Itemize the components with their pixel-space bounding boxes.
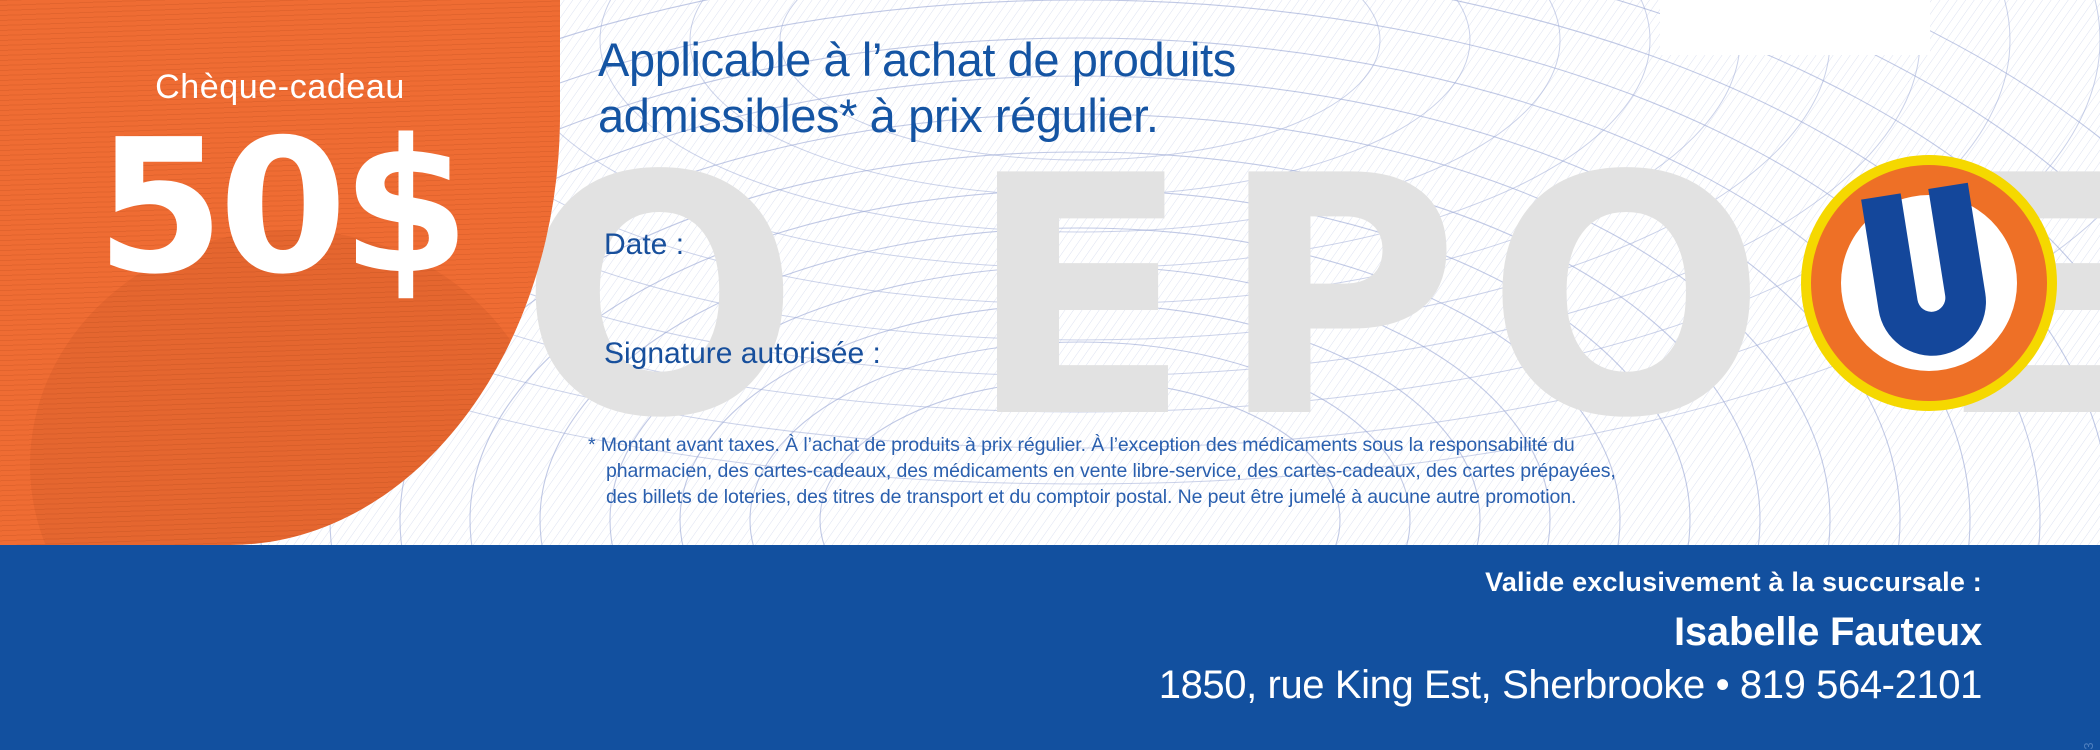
uniprix-logo — [1798, 152, 2060, 414]
headline-line-2: admissibles* à prix régulier. — [598, 88, 1638, 144]
footer-bar: Valide exclusivement à la succursale : I… — [0, 545, 2100, 750]
store-address: 1850, rue King Est, Sherbrooke • 819 564… — [1159, 663, 1982, 708]
headline: Applicable à l’achat de produits admissi… — [598, 32, 1638, 144]
signature-field-label[interactable]: Signature autorisée : — [604, 337, 881, 371]
disclaimer-line-2: pharmacien, des cartes-cadeaux, des médi… — [588, 458, 1738, 484]
disclaimer-line-3: des billets de loteries, des titres de t… — [588, 484, 1738, 510]
pharmacist-name: Isabelle Fauteux — [1159, 610, 1982, 655]
footer-content: Valide exclusivement à la succursale : I… — [1159, 567, 1982, 708]
top-white-notch — [1660, 0, 1930, 55]
footer-valide-label: Valide exclusivement à la succursale : — [1159, 567, 1982, 598]
headline-line-1: Applicable à l’achat de produits — [598, 32, 1638, 88]
disclaimer-line-1: * Montant avant taxes. À l’achat de prod… — [588, 432, 1738, 458]
date-field-label[interactable]: Date : — [604, 228, 684, 262]
amount-value: 50$ — [0, 115, 560, 300]
disclaimer: * Montant avant taxes. À l’achat de prod… — [588, 432, 1738, 510]
gift-certificate: EPO EPO EPO Chèque-cadeau 50$ Applicable… — [0, 0, 2100, 750]
reference-code: UX20_mfoc_0003-0013 — [2081, 742, 2096, 750]
